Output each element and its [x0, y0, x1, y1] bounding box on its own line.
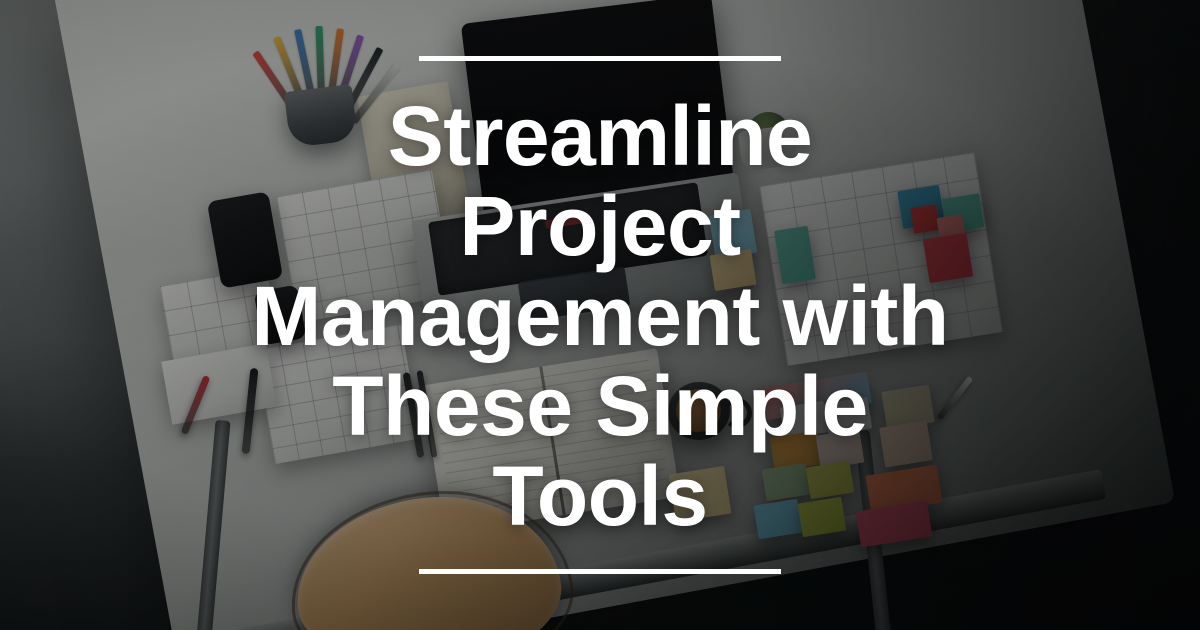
headline-overlay: Streamline Project Management with These…: [0, 0, 1200, 630]
page-title: Streamline Project Management with These…: [250, 91, 950, 541]
hero-card: Streamline Project Management with These…: [0, 0, 1200, 630]
top-divider: [419, 56, 781, 61]
bottom-divider: [419, 569, 781, 574]
